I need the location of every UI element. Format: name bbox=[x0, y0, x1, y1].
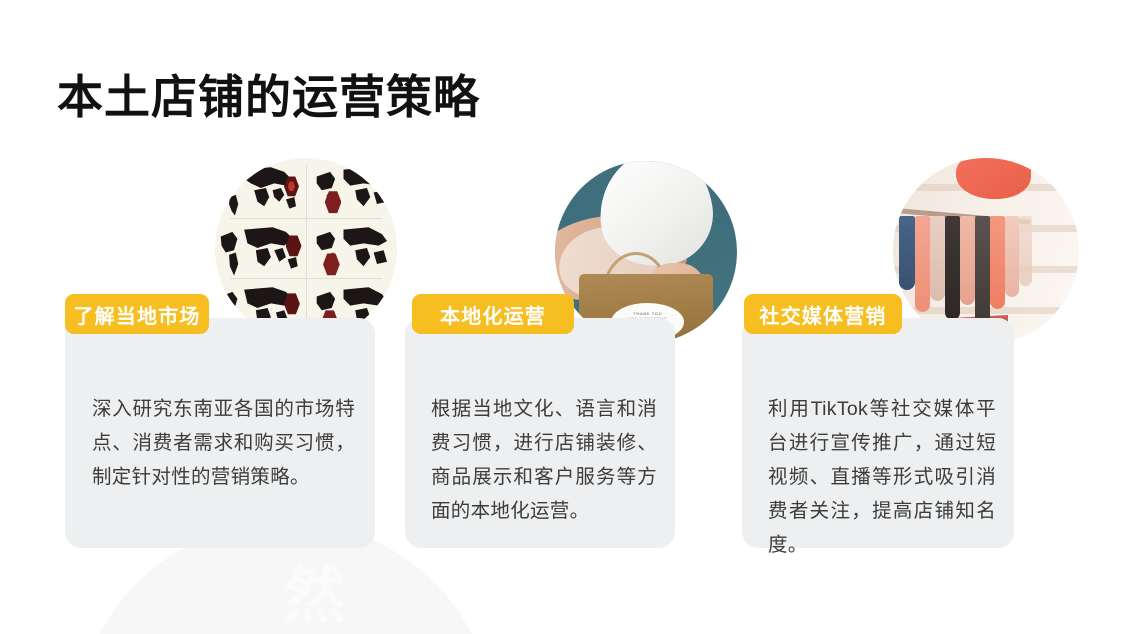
garment bbox=[960, 216, 975, 305]
sticker-line-1: THANK YOU bbox=[633, 311, 662, 316]
world-map-grid-photo bbox=[215, 158, 397, 340]
local-shopping-bag-photo: THANK YOU FOR SUPPORTING Local bbox=[555, 161, 737, 343]
upper-shelf-garment bbox=[956, 158, 1030, 199]
card-badge-social-media-marketing: 社交媒体营销 bbox=[744, 294, 902, 334]
card-badge-localized-operations: 本地化运营 bbox=[412, 294, 574, 334]
garment bbox=[899, 216, 916, 290]
garment bbox=[915, 216, 930, 313]
map-tile bbox=[219, 165, 303, 218]
page-title: 本土店铺的运营策略 bbox=[57, 61, 480, 127]
background-watermark-glyph: 然 bbox=[283, 566, 345, 628]
strategy-card: 深入研究东南亚各国的市场特点、消费者需求和购买习惯，制定针对性的营销策略。 bbox=[65, 318, 375, 548]
slide-canvas: 然 本土店铺的运营策略 bbox=[0, 0, 1137, 634]
map-tile bbox=[310, 165, 394, 218]
card-badge-know-local-market: 了解当地市场 bbox=[65, 294, 209, 334]
garment bbox=[1019, 216, 1032, 287]
garment bbox=[975, 216, 990, 324]
garment bbox=[930, 216, 945, 302]
card-body-text: 深入研究东南亚各国的市场特点、消费者需求和购买习惯，制定针对性的营销策略。 bbox=[92, 392, 355, 494]
map-divider-vertical bbox=[306, 165, 307, 332]
card-body-text: 利用TikTok等社交媒体平台进行宣传推广，通过短视频、直播等形式吸引消费者关注… bbox=[768, 392, 996, 562]
map-tile bbox=[219, 225, 303, 278]
card-body-text: 根据当地文化、语言和消费习惯，进行店铺装修、商品展示和客户服务等方面的本地化运营… bbox=[431, 392, 657, 528]
garment bbox=[990, 216, 1005, 309]
strategy-card: 根据当地文化、语言和消费习惯，进行店铺装修、商品展示和客户服务等方面的本地化运营… bbox=[405, 318, 675, 548]
strategy-card: 利用TikTok等社交媒体平台进行宣传推广，通过短视频、直播等形式吸引消费者关注… bbox=[742, 318, 1014, 548]
clothing-rack-photo bbox=[893, 158, 1079, 344]
garment bbox=[1005, 216, 1020, 298]
garment bbox=[945, 216, 960, 320]
map-tile bbox=[310, 225, 394, 278]
